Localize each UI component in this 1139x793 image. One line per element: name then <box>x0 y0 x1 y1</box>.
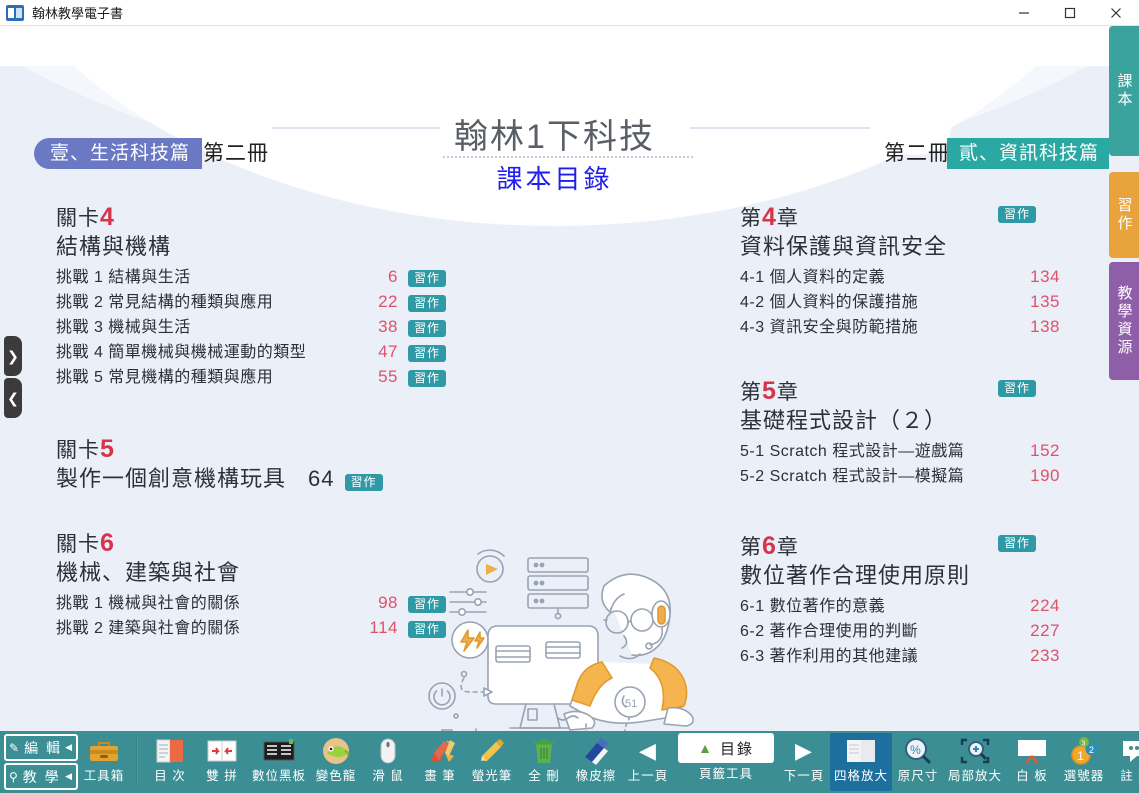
toc-group: 第5章習作基礎程式設計（２）5-1 Scratch 程式設計—遊戲篇1525-2… <box>740 378 1060 489</box>
blackboard-icon <box>257 733 301 769</box>
tool-toolbox[interactable]: 工具箱 <box>78 733 130 791</box>
toc-right-column: 第4章習作資料保護與資訊安全4-1 個人資料的定義1344-2 個人資料的保護措… <box>740 204 1060 669</box>
tool-label: 工具箱 <box>84 769 125 783</box>
tool-contents[interactable]: 目 次 <box>144 733 196 791</box>
svg-text:2: 2 <box>1089 745 1095 755</box>
title-divider <box>443 156 693 158</box>
chameleon-icon <box>314 733 358 769</box>
tool-label: 原尺寸 <box>898 769 939 783</box>
close-button[interactable] <box>1093 0 1139 26</box>
toc-group-prefix: 第 <box>740 207 762 230</box>
tool-comment[interactable]: 註 釋 <box>1110 733 1139 791</box>
toc-dropdown[interactable]: ▲目錄頁籤工具 <box>674 733 778 791</box>
toc-page-number[interactable]: 138 <box>1026 315 1060 339</box>
toc-entry[interactable]: 4-1 個人資料的定義134 <box>740 265 1060 290</box>
tool-whiteboard[interactable]: 白 板 <box>1006 733 1058 791</box>
toc-entry-label: 挑戰 5 常見機構的種類與應用 <box>56 366 273 390</box>
tool-label: 畫 筆 <box>424 769 455 783</box>
toc-entry-label: 6-3 著作利用的其他建議 <box>740 645 918 669</box>
pencil-icon: ✎ <box>9 741 21 755</box>
workbook-badge[interactable]: 習作 <box>408 370 446 387</box>
tool-chameleon[interactable]: 變色龍 <box>310 733 362 791</box>
toc-page-number[interactable]: 152 <box>1026 439 1060 463</box>
toc-group-number: 關卡6 <box>56 530 446 558</box>
toc-group-suffix: 章 <box>777 381 799 404</box>
mode-teach-label: 教 學 <box>23 767 61 787</box>
toc-group-title[interactable]: 資料保護與資訊安全 <box>740 232 1060 262</box>
prev-page-button[interactable]: ◀上一頁 <box>622 733 674 791</box>
toc-group: 關卡6機械、建築與社會挑戰 1 機械與社會的關係98習作挑戰 2 建築與社會的關… <box>56 530 446 641</box>
svg-text:3: 3 <box>1082 741 1087 748</box>
toc-group: 第6章習作數位著作合理使用原則6-1 數位著作的意義2246-2 著作合理使用的… <box>740 533 1060 669</box>
toc-entry[interactable]: 5-1 Scratch 程式設計—遊戲篇152 <box>740 439 1060 464</box>
bottom-toolbar: ✎ 編 輯 ⚲ 教 學 工具箱目 次雙 拼數位黑板變色龍滑 鼠畫 筆螢光筆全 刪… <box>0 731 1139 793</box>
toc-group-title[interactable]: 數位著作合理使用原則 <box>740 561 1060 591</box>
toc-page-number[interactable]: 134 <box>1026 265 1060 289</box>
next-page-button-icon: ▶ <box>782 733 826 769</box>
window-title-bar: 翰林教學電子書 <box>0 0 1139 26</box>
toc-entry[interactable]: 挑戰 4 簡單機械與機械運動的類型47習作 <box>56 340 446 365</box>
toc-entry-label: 挑戰 1 結構與生活 <box>56 266 191 290</box>
toc-entry[interactable]: 挑戰 1 機械與社會的關係98習作 <box>56 591 446 616</box>
toc-group-number: 關卡5 <box>56 436 446 464</box>
tool-number-picker[interactable]: 123選號器 <box>1058 733 1110 791</box>
toc-group-title-text: 製作一個創意機構玩具 <box>56 464 286 494</box>
toc-page-number[interactable]: 98 <box>364 591 398 615</box>
tool-label: 雙 拼 <box>206 769 237 783</box>
toc-group: 關卡4結構與機構挑戰 1 結構與生活6習作挑戰 2 常見結構的種類與應用22習作… <box>56 204 446 390</box>
workbook-badge[interactable]: 習作 <box>998 535 1036 552</box>
tool-blackboard[interactable]: 數位黑板 <box>248 733 310 791</box>
tool-mouse[interactable]: 滑 鼠 <box>362 733 414 791</box>
toc-page-number[interactable]: 224 <box>1026 594 1060 618</box>
toc-entry-label: 挑戰 2 建築與社會的關係 <box>56 617 240 641</box>
tool-label: 註 釋 <box>1120 769 1139 783</box>
page-nav-group: ◀上一頁▲目錄頁籤工具▶下一頁 <box>622 731 830 791</box>
tool-label: 變色龍 <box>316 769 357 783</box>
toc-entry[interactable]: 挑戰 2 常見結構的種類與應用22習作 <box>56 290 446 315</box>
toc-entry[interactable]: 4-2 個人資料的保護措施135 <box>740 290 1060 315</box>
tool-trash[interactable]: 全 刪 <box>518 733 570 791</box>
tool-label: 螢光筆 <box>472 769 513 783</box>
workbook-badge[interactable]: 習作 <box>345 474 383 491</box>
toc-button[interactable]: ▲目錄 <box>678 733 774 763</box>
toc-group-index: 4 <box>100 203 115 231</box>
toc-group: 關卡5製作一個創意機構玩具64習作 <box>56 436 446 494</box>
toc-group-prefix: 關卡 <box>56 207 100 230</box>
contents-icon <box>148 733 192 769</box>
tool-label: 滑 鼠 <box>372 769 403 783</box>
toc-entry-label: 挑戰 4 簡單機械與機械運動的類型 <box>56 341 306 365</box>
workbook-badge[interactable]: 習作 <box>998 206 1036 223</box>
tool-label: 目 次 <box>154 769 185 783</box>
toc-group-index: 5 <box>762 377 777 405</box>
toc-page-number[interactable]: 64 <box>308 464 334 494</box>
page-header: 壹、生活科技篇 第二冊 第二冊 貳、資訊科技篇 翰林1下科技 課本目錄 <box>0 26 1109 186</box>
maximize-button[interactable] <box>1047 0 1093 26</box>
tool-four-grid-zoom[interactable]: 四格放大 <box>830 733 892 791</box>
toc-entry-label: 4-3 資訊安全與防範措施 <box>740 316 918 340</box>
highlighter-icon <box>470 733 514 769</box>
pointer-icon: ⚲ <box>9 770 20 784</box>
toc-group-index: 4 <box>762 203 777 231</box>
toc-entry-label: 4-1 個人資料的定義 <box>740 266 885 290</box>
workbook-badge[interactable]: 習作 <box>408 270 446 287</box>
tool-eraser[interactable]: 橡皮擦 <box>570 733 622 791</box>
toc-entry[interactable]: 挑戰 1 結構與生活6習作 <box>56 265 446 290</box>
toc-group-title[interactable]: 結構與機構 <box>56 232 446 262</box>
toc-entry-label: 挑戰 1 機械與社會的關係 <box>56 592 240 616</box>
tool-label: 全 刪 <box>528 769 559 783</box>
toc-entry-label: 5-2 Scratch 程式設計—模擬篇 <box>740 465 964 489</box>
toc-group-prefix: 關卡 <box>56 439 100 462</box>
toc-group-index: 6 <box>100 529 115 557</box>
toc-entry[interactable]: 6-1 數位著作的意義224 <box>740 594 1060 619</box>
toolbar-tools-left: 工具箱目 次雙 拼數位黑板變色龍滑 鼠畫 筆螢光筆全 刪橡皮擦◀上一頁▲目錄頁籤… <box>78 731 1139 791</box>
trash-icon <box>522 733 566 769</box>
toc-page-number[interactable]: 233 <box>1026 644 1060 668</box>
whiteboard-icon <box>1010 733 1054 769</box>
toc-entry[interactable]: 4-3 資訊安全與防範措施138 <box>740 315 1060 340</box>
toc-entry-label: 4-2 個人資料的保護措施 <box>740 291 918 315</box>
tab-workbook[interactable]: 習作 <box>1109 172 1139 258</box>
panel-collapse-handle[interactable]: ❮ <box>4 378 22 418</box>
book-app-icon <box>6 5 24 21</box>
tab-textbook[interactable]: 課本 <box>1109 26 1139 156</box>
toc-entry-label: 6-1 數位著作的意義 <box>740 595 885 619</box>
prev-page-button-icon: ◀ <box>626 733 670 769</box>
student-computer-illustration: 51 <box>418 544 728 731</box>
toc-group-title[interactable]: 製作一個創意機構玩具64習作 <box>56 464 446 494</box>
page-title: 翰林1下科技 <box>0 109 1109 158</box>
mode-switch-group: ✎ 編 輯 ⚲ 教 學 <box>4 734 78 790</box>
toc-entry[interactable]: 挑戰 5 常見機構的種類與應用55習作 <box>56 365 446 390</box>
tool-label: 下一頁 <box>784 769 825 783</box>
toc-entry-label: 挑戰 3 機械與生活 <box>56 316 191 340</box>
toc-group-prefix: 關卡 <box>56 533 100 556</box>
tool-dual-page[interactable]: 雙 拼 <box>196 733 248 791</box>
right-tab-strip: 課本 習作 教學資源 <box>1109 26 1139 731</box>
mouse-icon <box>366 733 410 769</box>
chevron-up-icon: ▲ <box>698 740 714 756</box>
toc-page-number[interactable]: 55 <box>364 365 398 389</box>
comment-icon <box>1114 733 1139 769</box>
window-title: 翰林教學電子書 <box>32 3 123 22</box>
tab-teaching-resources[interactable]: 教學資源 <box>1109 262 1139 380</box>
toc-entry[interactable]: 挑戰 2 建築與社會的關係114習作 <box>56 616 446 641</box>
eraser-icon <box>574 733 618 769</box>
workbook-badge[interactable]: 習作 <box>408 320 446 337</box>
tool-label: 局部放大 <box>948 769 1002 783</box>
tool-actual-size[interactable]: %原尺寸 <box>892 733 944 791</box>
minimize-button[interactable] <box>1001 0 1047 26</box>
svg-text:51: 51 <box>625 698 637 710</box>
toc-group-suffix: 章 <box>777 207 799 230</box>
toc-button-label: 目錄 <box>720 738 754 759</box>
toc-group-title[interactable]: 基礎程式設計（２） <box>740 406 1060 436</box>
toc-group-prefix: 第 <box>740 536 762 559</box>
toolbar-separator <box>136 735 138 787</box>
tool-label: 選號器 <box>1064 769 1105 783</box>
toc-group-suffix: 章 <box>777 536 799 559</box>
toc-entry[interactable]: 6-3 著作利用的其他建議233 <box>740 644 1060 669</box>
toc-page-number[interactable]: 135 <box>1026 290 1060 314</box>
toc-entry[interactable]: 挑戰 3 機械與生活38習作 <box>56 315 446 340</box>
book-page: 壹、生活科技篇 第二冊 第二冊 貳、資訊科技篇 翰林1下科技 課本目錄 <box>0 26 1109 731</box>
workbook-badge[interactable]: 習作 <box>998 380 1036 397</box>
mode-edit-button[interactable]: ✎ 編 輯 <box>4 734 78 761</box>
mode-teach-button[interactable]: ⚲ 教 學 <box>4 763 78 790</box>
toc-entry-label: 挑戰 2 常見結構的種類與應用 <box>56 291 273 315</box>
dual-page-icon <box>200 733 244 769</box>
toc-group: 第4章習作資料保護與資訊安全4-1 個人資料的定義1344-2 個人資料的保護措… <box>740 204 1060 340</box>
tool-pen[interactable]: 畫 筆 <box>414 733 466 791</box>
tool-label: 橡皮擦 <box>576 769 617 783</box>
toc-entry-label: 6-2 著作合理使用的判斷 <box>740 620 918 644</box>
tool-highlighter[interactable]: 螢光筆 <box>466 733 518 791</box>
region-zoom-icon <box>953 733 997 769</box>
toc-group-prefix: 第 <box>740 381 762 404</box>
workbook-badge[interactable]: 習作 <box>408 295 446 312</box>
tool-label: 白 板 <box>1016 769 1047 783</box>
tool-label: 數位黑板 <box>252 769 306 783</box>
page-subtitle: 課本目錄 <box>0 159 1109 196</box>
toc-page-number[interactable]: 114 <box>364 616 398 640</box>
toc-group-number: 關卡4 <box>56 204 446 232</box>
number-picker-icon: 123 <box>1062 733 1106 769</box>
toc-entry[interactable]: 5-2 Scratch 程式設計—模擬篇190 <box>740 464 1060 489</box>
toc-entry[interactable]: 6-2 著作合理使用的判斷227 <box>740 619 1060 644</box>
toc-group-title[interactable]: 機械、建築與社會 <box>56 558 446 588</box>
toc-page-number[interactable]: 190 <box>1026 464 1060 488</box>
four-grid-zoom-icon <box>839 733 883 769</box>
toc-page-number[interactable]: 6 <box>364 265 398 289</box>
svg-text:%: % <box>910 743 922 757</box>
tool-label: 頁籤工具 <box>699 767 753 781</box>
toolbox-icon <box>82 733 126 769</box>
toc-page-number[interactable]: 22 <box>364 290 398 314</box>
workbook-badge[interactable]: 習作 <box>408 621 446 638</box>
tool-region-zoom[interactable]: 局部放大 <box>944 733 1006 791</box>
toc-group-index: 6 <box>762 532 777 560</box>
next-page-button[interactable]: ▶下一頁 <box>778 733 830 791</box>
workbook-badge[interactable]: 習作 <box>408 345 446 362</box>
workbook-badge[interactable]: 習作 <box>408 596 446 613</box>
toc-page-number[interactable]: 47 <box>364 340 398 364</box>
mode-edit-label: 編 輯 <box>24 738 62 758</box>
panel-expand-handle[interactable]: ❯ <box>4 336 22 376</box>
toc-page-number[interactable]: 227 <box>1026 619 1060 643</box>
toc-page-number[interactable]: 38 <box>364 315 398 339</box>
svg-text:1: 1 <box>1077 749 1085 763</box>
toc-group-index: 5 <box>100 435 115 463</box>
toc-entry-label: 5-1 Scratch 程式設計—遊戲篇 <box>740 440 964 464</box>
pen-icon <box>418 733 462 769</box>
window-controls <box>1001 0 1139 26</box>
tool-label: 四格放大 <box>834 769 888 783</box>
tool-label: 上一頁 <box>628 769 669 783</box>
toc-left-column: 關卡4結構與機構挑戰 1 結構與生活6習作挑戰 2 常見結構的種類與應用22習作… <box>56 204 446 641</box>
actual-size-icon: % <box>896 733 940 769</box>
